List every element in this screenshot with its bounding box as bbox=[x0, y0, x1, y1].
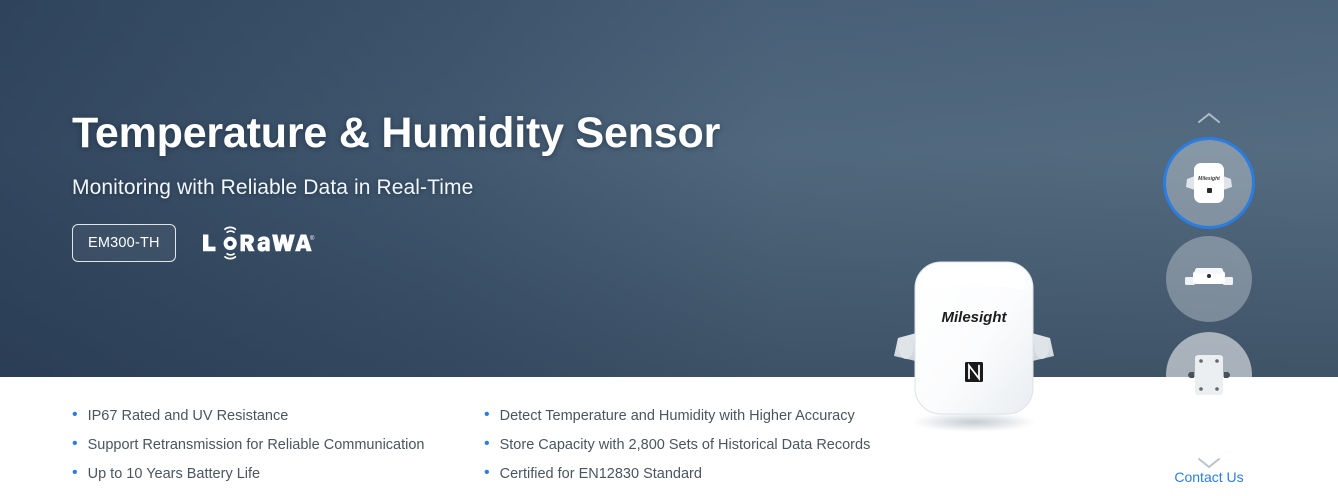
feature-columns: • IP67 Rated and UV Resistance • Support… bbox=[72, 405, 904, 492]
lorawan-logo: ® bbox=[200, 226, 316, 260]
feature-text: Certified for EN12830 Standard bbox=[500, 463, 702, 486]
feature-text: Support Retransmission for Reliable Comm… bbox=[88, 434, 425, 457]
feature-item: • Store Capacity with 2,800 Sets of Hist… bbox=[484, 434, 904, 457]
feature-text: Up to 10 Years Battery Life bbox=[88, 463, 261, 486]
bullet-icon: • bbox=[72, 404, 78, 426]
feature-column-1: • IP67 Rated and UV Resistance • Support… bbox=[72, 405, 484, 492]
bullet-icon: • bbox=[484, 433, 490, 455]
contact-us-link[interactable]: Contact Us bbox=[1166, 469, 1252, 485]
svg-text:Milesight: Milesight bbox=[1198, 176, 1220, 182]
gallery-thumbnail-side-view[interactable] bbox=[1166, 236, 1252, 322]
chevron-up-icon bbox=[1197, 112, 1221, 124]
feature-item: • IP67 Rated and UV Resistance bbox=[72, 405, 484, 428]
product-image: Milesight bbox=[884, 250, 1064, 432]
bullet-icon: • bbox=[484, 462, 490, 484]
feature-highlights-section: • IP67 Rated and UV Resistance • Support… bbox=[0, 377, 1338, 496]
product-brand-text: Milesight bbox=[941, 309, 1007, 326]
feature-text: IP67 Rated and UV Resistance bbox=[88, 405, 289, 428]
hero-meta-row: EM300-TH bbox=[72, 224, 720, 262]
model-number-badge: EM300-TH bbox=[72, 224, 176, 262]
feature-column-2: • Detect Temperature and Humidity with H… bbox=[484, 405, 904, 492]
feature-item: • Detect Temperature and Humidity with H… bbox=[484, 405, 904, 428]
gallery-scroll-up-button[interactable] bbox=[1189, 110, 1229, 126]
gallery-thumbnail-front-view[interactable]: Milesight bbox=[1166, 140, 1252, 226]
bullet-icon: • bbox=[484, 404, 490, 426]
page-subtitle: Monitoring with Reliable Data in Real-Ti… bbox=[72, 176, 720, 200]
feature-item: • Support Retransmission for Reliable Co… bbox=[72, 434, 484, 457]
gallery-thumbnail-back-view[interactable] bbox=[1166, 332, 1252, 418]
product-gallery-rail: Milesight bbox=[1166, 110, 1252, 418]
bullet-icon: • bbox=[72, 462, 78, 484]
feature-text: Detect Temperature and Humidity with Hig… bbox=[500, 405, 855, 428]
feature-item: • Up to 10 Years Battery Life bbox=[72, 463, 484, 486]
feature-item: • Certified for EN12830 Standard bbox=[484, 463, 904, 486]
svg-text:®: ® bbox=[310, 235, 315, 242]
feature-text: Store Capacity with 2,800 Sets of Histor… bbox=[500, 434, 871, 457]
chevron-down-icon bbox=[1197, 457, 1221, 469]
hero-copy: Temperature & Humidity Sensor Monitoring… bbox=[72, 112, 720, 262]
nfc-icon bbox=[965, 362, 983, 382]
product-hero-page: Temperature & Humidity Sensor Monitoring… bbox=[0, 0, 1338, 496]
bullet-icon: • bbox=[72, 433, 78, 455]
page-title: Temperature & Humidity Sensor bbox=[72, 112, 720, 156]
